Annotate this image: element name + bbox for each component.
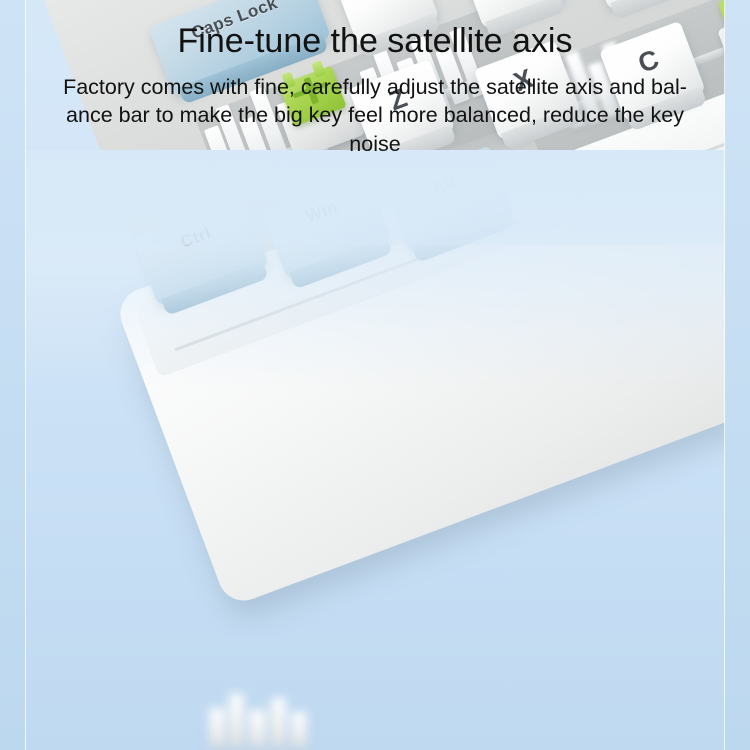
description-line-2: ance bar to make the big key feel more b…: [66, 103, 684, 127]
description-line-3: noise: [349, 132, 400, 156]
text-block: Fine-tune the satellite axis Factory com…: [0, 0, 750, 158]
loose-stabilizer-part: [205, 690, 325, 750]
page-description: Factory comes with fine, carefully adjus…: [25, 73, 725, 158]
loose-clips: [205, 690, 315, 748]
description-line-1: Factory comes with fine, carefully adjus…: [63, 75, 687, 99]
page-title: Fine-tune the satellite axis: [0, 22, 750, 61]
